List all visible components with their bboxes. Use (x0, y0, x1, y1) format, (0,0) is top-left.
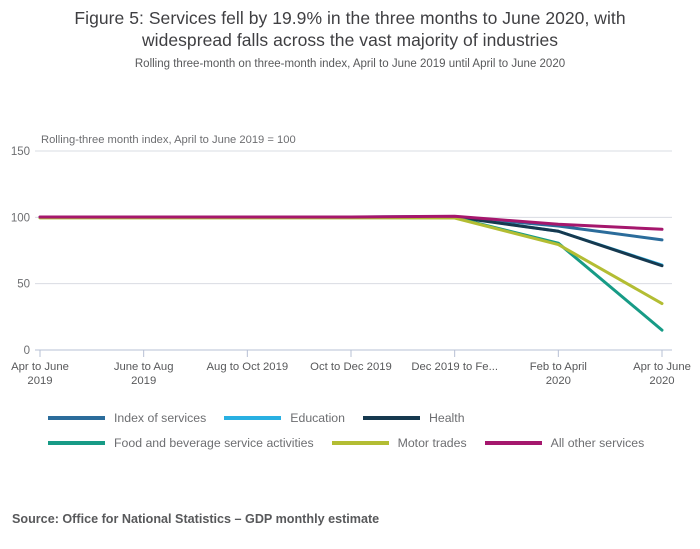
y-axis-tick-labels: 050100150 (11, 146, 30, 357)
x-axis-tick-label: Aug to Oct 2019 (207, 361, 289, 373)
series-line (40, 217, 662, 240)
legend-row: Food and beverage service activitiesMoto… (48, 430, 688, 455)
x-axis-tick-label: Apr to June (633, 361, 691, 373)
line-chart: 050100150 Apr to June2019June to Aug2019… (0, 0, 700, 460)
legend-color-swatch (363, 416, 420, 420)
legend-label: Education (290, 411, 345, 425)
x-axis-tick-label: Feb to April (530, 361, 587, 373)
gridlines (35, 151, 672, 350)
chart-legend: Index of servicesEducationHealthFood and… (48, 405, 688, 455)
x-axis-tick-label: Apr to June (11, 361, 69, 373)
legend-item[interactable]: Food and beverage service activities (48, 436, 332, 450)
x-axis-tick-label: 2020 (546, 375, 571, 387)
y-axis-tick-label: 50 (17, 279, 30, 291)
x-axis-tick-marks (40, 350, 662, 357)
data-series-lines (40, 216, 662, 330)
x-axis-tick-label: 2019 (131, 375, 156, 387)
x-axis-tick-labels: Apr to June2019June to Aug2019Aug to Oct… (11, 361, 691, 387)
legend-row: Index of servicesEducationHealth (48, 405, 688, 430)
legend-label: All other services (551, 436, 645, 450)
legend-label: Motor trades (398, 436, 467, 450)
x-axis-tick-label: June to Aug (114, 361, 174, 373)
legend-color-swatch (224, 416, 281, 420)
x-axis-tick-label: 2020 (649, 375, 674, 387)
legend-label: Health (429, 411, 465, 425)
x-axis-tick-label: Oct to Dec 2019 (310, 361, 392, 373)
legend-label: Index of services (114, 411, 206, 425)
legend-color-swatch (48, 441, 105, 445)
y-axis-tick-label: 100 (11, 212, 30, 224)
legend-color-swatch (48, 416, 105, 420)
legend-color-swatch (332, 441, 389, 445)
figure-container: Figure 5: Services fell by 19.9% in the … (0, 0, 700, 549)
y-axis-tick-label: 0 (24, 345, 30, 357)
legend-item[interactable]: Education (224, 411, 363, 425)
plot-area: Rolling-three month index, April to June… (0, 0, 700, 460)
legend-item[interactable]: Motor trades (332, 436, 485, 450)
series-line (40, 218, 662, 304)
legend-label: Food and beverage service activities (114, 436, 314, 450)
source-note: Source: Office for National Statistics –… (12, 512, 379, 526)
x-axis-tick-label: 2019 (27, 375, 52, 387)
x-axis-tick-label: Dec 2019 to Fe... (411, 361, 498, 373)
legend-color-swatch (485, 441, 542, 445)
y-axis-tick-label: 150 (11, 146, 30, 158)
legend-item[interactable]: All other services (485, 436, 663, 450)
legend-item[interactable]: Index of services (48, 411, 224, 425)
legend-item[interactable]: Health (363, 411, 483, 425)
